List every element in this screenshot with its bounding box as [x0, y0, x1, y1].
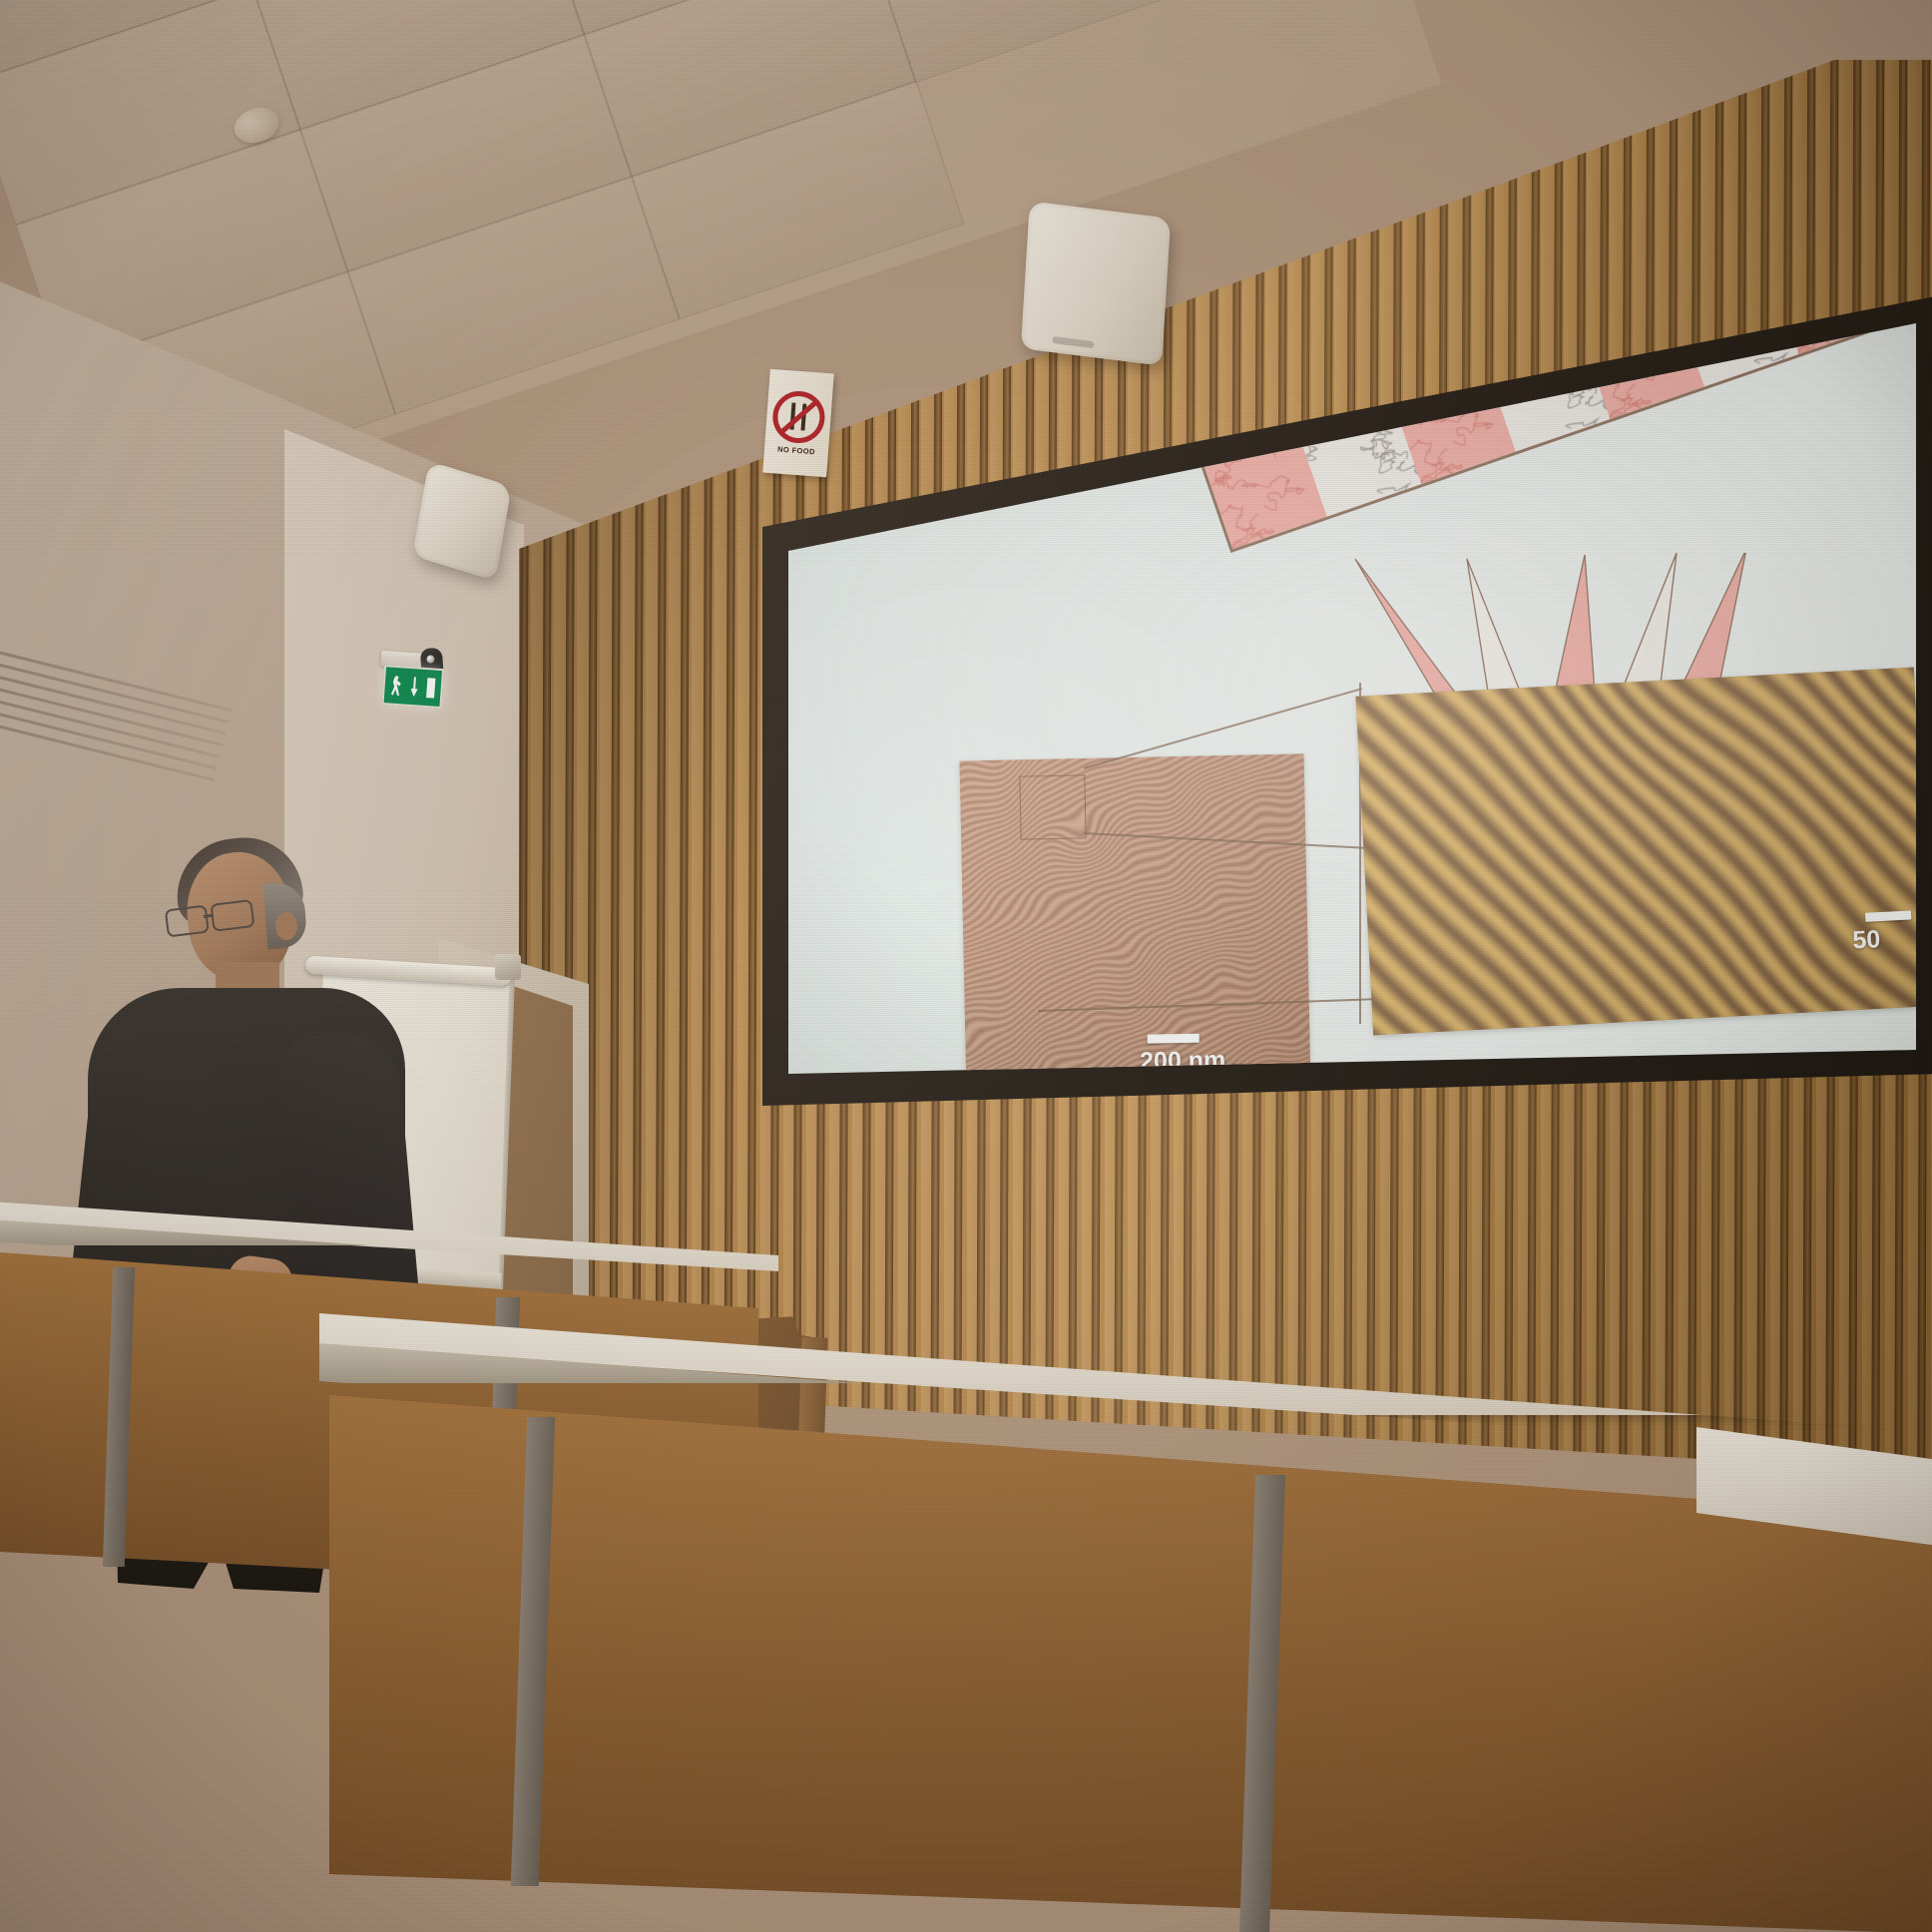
arrow-down-icon	[410, 677, 418, 697]
presenter-ear	[275, 912, 297, 940]
flipchart-clip	[495, 954, 521, 980]
afm-low-magnification	[960, 753, 1311, 1074]
afm-high-magnification	[1355, 668, 1916, 1036]
no-food-sign: NO FOOD	[762, 369, 833, 477]
wall-speaker-main	[1021, 201, 1171, 365]
no-food-label: NO FOOD	[777, 445, 815, 457]
afm-roi-box	[1019, 774, 1086, 839]
scale-bar-50nm: 50	[1851, 910, 1913, 953]
lecture-hall-photo: NO FOOD	[0, 0, 1932, 1932]
prohibition-icon	[771, 389, 827, 445]
running-man-icon	[390, 676, 402, 697]
exit-door-icon	[426, 678, 435, 699]
emergency-exit-sign	[377, 651, 445, 717]
